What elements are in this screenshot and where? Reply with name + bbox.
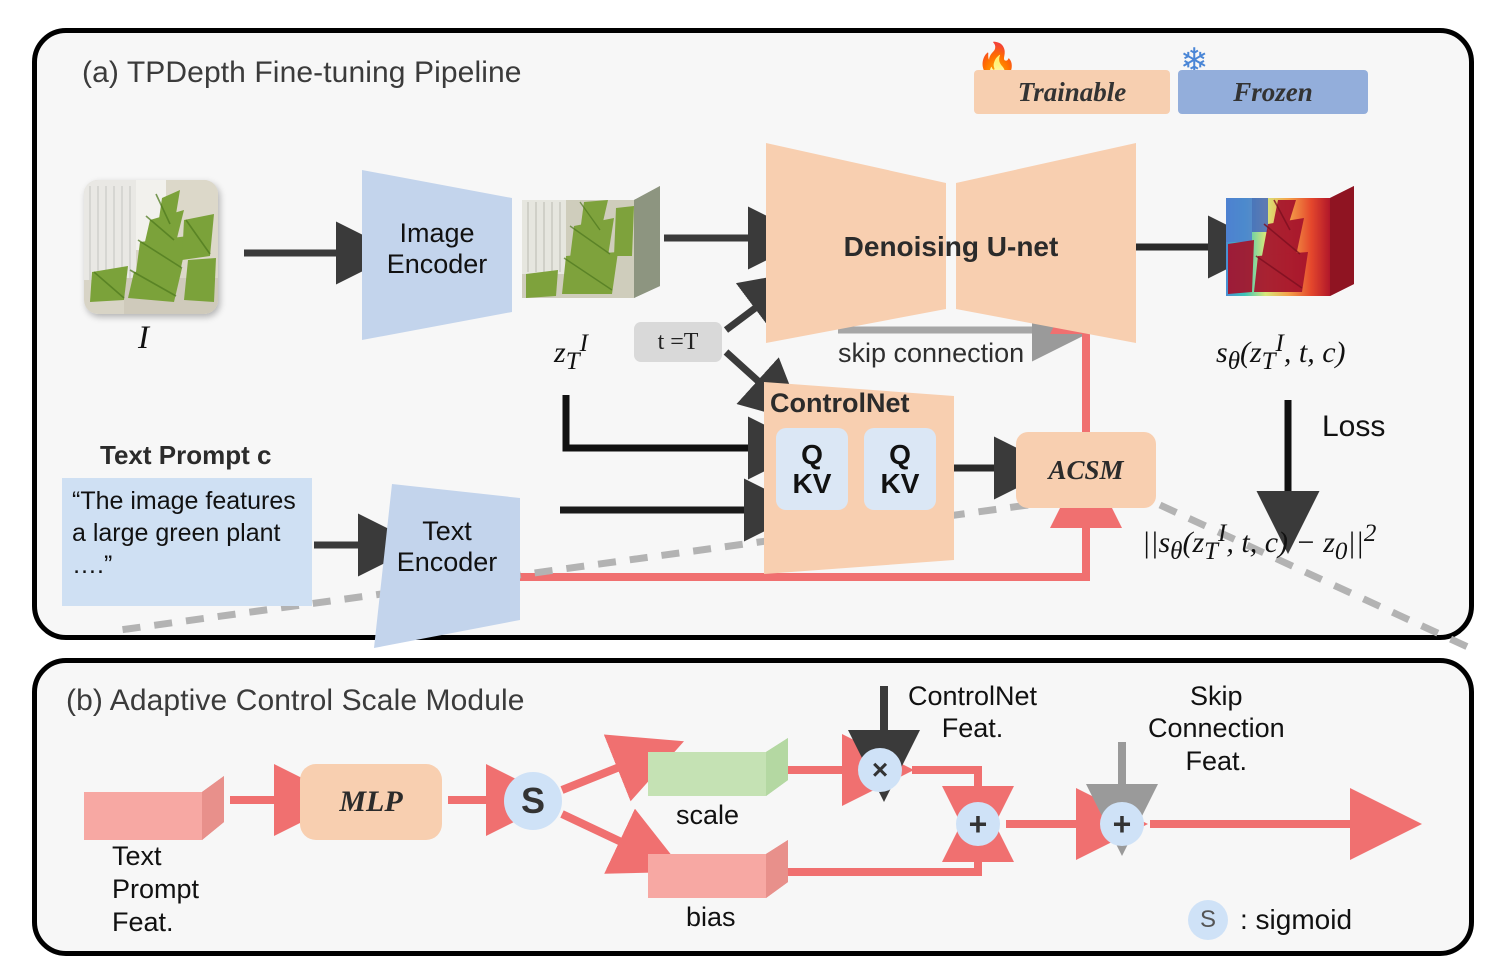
- loss-label: Loss: [1322, 410, 1385, 444]
- text-prompt-feat-label: Text Prompt Feat.: [112, 840, 199, 939]
- image-encoder-block: Image Encoder: [362, 170, 512, 340]
- denoising-unet-label: Denoising U-net: [766, 231, 1136, 263]
- skip-feat-label: Skip Connection Feat.: [1148, 680, 1285, 777]
- tpf-line1: Text: [112, 841, 162, 871]
- image-encoder-line2: Encoder: [387, 249, 488, 279]
- attn-block-1: Q KV: [776, 428, 848, 510]
- text-encoder-line1: Text: [422, 516, 472, 546]
- text-encoder-block: Text Encoder: [374, 484, 520, 648]
- text-encoder-line2: Encoder: [397, 547, 498, 577]
- add-node-2: +: [1100, 802, 1144, 846]
- controlnet-feat-label: ControlNet Feat.: [908, 680, 1037, 745]
- mlp-block: MLP: [300, 764, 442, 840]
- input-image-caption: I: [138, 320, 149, 357]
- legend-frozen: Frozen: [1178, 70, 1368, 114]
- multiply-node: ×: [858, 748, 902, 792]
- image-encoder-line1: Image: [399, 218, 474, 248]
- legend-trainable: Trainable: [974, 70, 1170, 114]
- scale-label: scale: [676, 800, 739, 831]
- tpf-line2: Prompt: [112, 874, 199, 904]
- text-prompt-feat-box: [84, 776, 224, 840]
- loss-formula: ||sθ(zTI, t, c) − z0||2: [1142, 520, 1376, 566]
- acsm-block: ACSM: [1016, 432, 1156, 508]
- tpf-line3: Feat.: [112, 907, 174, 937]
- attn-kv-1: KV: [793, 469, 832, 498]
- skf-line3: Feat.: [1186, 746, 1248, 776]
- skip-connection-label: skip connection: [838, 338, 1024, 369]
- output-depth-cube: [1226, 186, 1356, 310]
- cnf-line1: ControlNet: [908, 681, 1037, 711]
- scale-box: [648, 738, 788, 796]
- latent-caption: zTI: [554, 330, 588, 376]
- attn-block-2: Q KV: [864, 428, 936, 510]
- bias-label: bias: [686, 902, 736, 933]
- output-caption: sθ(zTI, t, c): [1216, 330, 1346, 376]
- attn-kv-2: KV: [881, 469, 920, 498]
- skf-line2: Connection: [1148, 713, 1285, 743]
- attn-q-1: Q: [801, 440, 823, 469]
- legend-sigmoid-text: : sigmoid: [1240, 904, 1352, 936]
- panel-a-title: (a) TPDepth Fine-tuning Pipeline: [82, 56, 522, 90]
- sigmoid-node: S: [504, 772, 562, 830]
- cnf-line2: Feat.: [942, 713, 1004, 743]
- add-node-1: +: [956, 802, 1000, 846]
- skf-line1: Skip: [1190, 681, 1243, 711]
- text-prompt-title: Text Prompt c: [100, 440, 271, 471]
- legend-sigmoid-node: S: [1188, 900, 1228, 940]
- attn-q-2: Q: [889, 440, 911, 469]
- latent-cube: [522, 186, 662, 312]
- input-image-thumbnail: [84, 180, 218, 314]
- panel-b-title: (b) Adaptive Control Scale Module: [66, 684, 525, 718]
- timestep-badge: t =T: [634, 322, 722, 362]
- bias-box: [648, 840, 788, 898]
- denoising-unet-block: Denoising U-net: [766, 143, 1136, 343]
- controlnet-label: ControlNet: [770, 388, 909, 419]
- text-prompt-value: “The image features a large green plant …: [62, 478, 312, 606]
